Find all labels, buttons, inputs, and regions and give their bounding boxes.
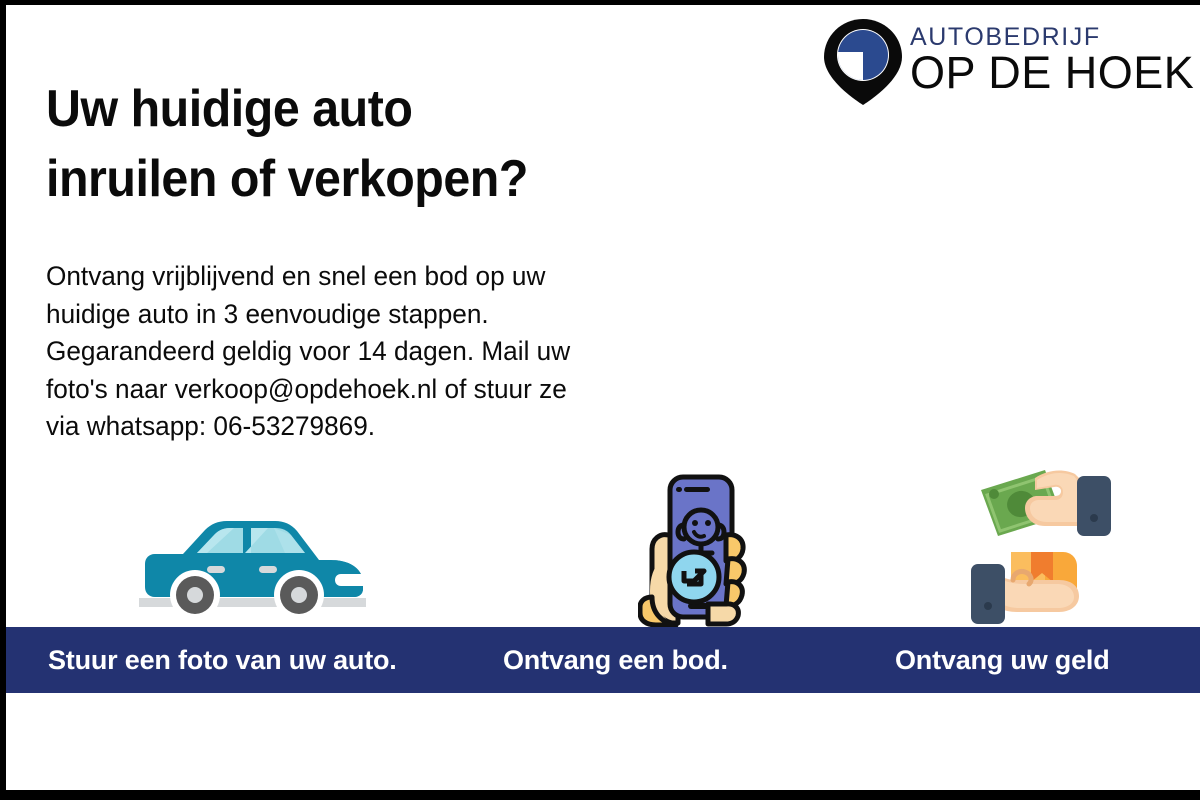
- bottom-frame-bar: [0, 790, 1200, 800]
- step-label-2: Ontvang een bod.: [503, 627, 728, 693]
- body-line-2: huidige auto in 3 eenvoudige stappen.: [46, 296, 725, 334]
- step-label-1: Stuur een foto van uw auto.: [48, 627, 397, 693]
- top-frame-bar: [0, 0, 1200, 5]
- brand-logo[interactable]: AUTOBEDRIJF OP DE HOEK: [822, 14, 1194, 106]
- brand-wordmark: AUTOBEDRIJF OP DE HOEK: [910, 14, 1194, 96]
- body-line-1: Ontvang vrijblijvend en snel een bod op …: [46, 258, 725, 296]
- body-line-4: foto's naar verkoop@opdehoek.nl of stuur…: [46, 371, 725, 409]
- money-exchange-hands-icon: [967, 460, 1132, 630]
- brand-name: OP DE HOEK: [910, 50, 1194, 96]
- step-1-icon-cell: [6, 455, 498, 630]
- steps-icon-row: [6, 455, 1200, 630]
- hero-description: Ontvang vrijblijvend en snel een bod op …: [46, 258, 725, 446]
- phone-in-hand-icon: [638, 465, 758, 630]
- body-line-3: Gegarandeerd geldig voor 14 dagen. Mail …: [46, 333, 725, 371]
- location-pin-icon: [822, 18, 904, 106]
- step-3-icon-cell: [898, 455, 1200, 630]
- body-line-5: via whatsapp: 06-53279869.: [46, 408, 725, 446]
- brand-subtitle: AUTOBEDRIJF: [910, 14, 1194, 51]
- headline-line-2: inruilen of verkopen?: [46, 144, 678, 214]
- step-2-icon-cell: [498, 455, 898, 630]
- step-label-3: Ontvang uw geld: [895, 627, 1110, 693]
- car-icon: [135, 490, 370, 630]
- steps-banner: Stuur een foto van uw auto. Ontvang een …: [6, 627, 1200, 693]
- flyer-page: AUTOBEDRIJF OP DE HOEK Uw huidige auto i…: [0, 0, 1200, 800]
- page-title: Uw huidige auto inruilen of verkopen?: [46, 74, 678, 214]
- headline-line-1: Uw huidige auto: [46, 74, 678, 144]
